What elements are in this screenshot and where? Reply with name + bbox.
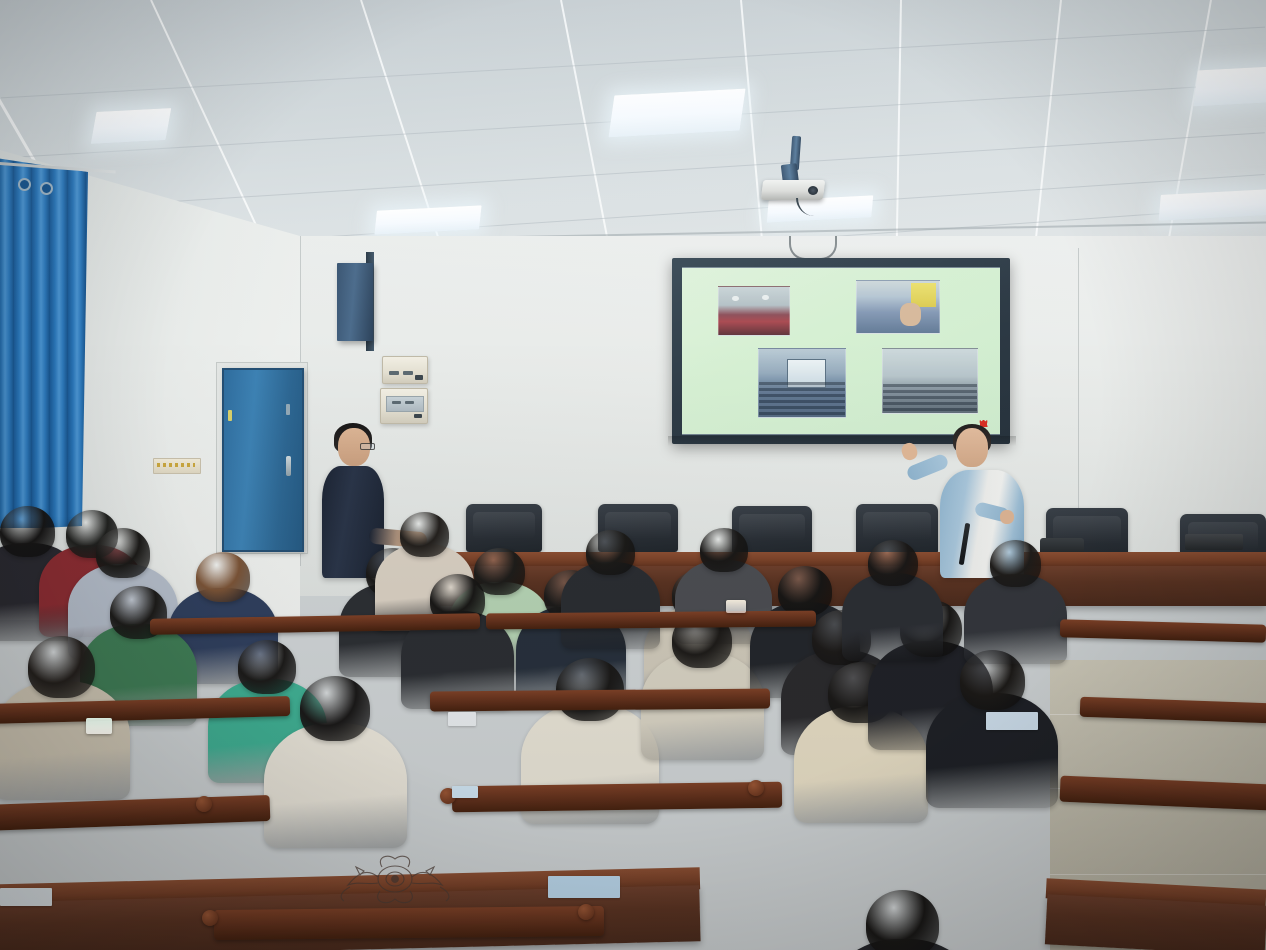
bench-rail (486, 611, 816, 630)
audience-member-torso (561, 562, 660, 648)
door-hinge-icon (228, 410, 232, 421)
bench-rail-front (214, 906, 604, 940)
audience-member-head (586, 530, 635, 575)
projected-slide (682, 268, 1000, 434)
bench-knob (202, 910, 218, 926)
bench-rail (430, 689, 770, 712)
paper-handout[interactable] (548, 876, 620, 898)
bench-rail (1060, 619, 1266, 642)
classroom-door[interactable] (222, 368, 304, 552)
paper-handout[interactable] (448, 712, 476, 726)
paper-handout[interactable] (986, 712, 1038, 730)
audience-member-head (868, 540, 918, 586)
audience-member-head (28, 636, 95, 698)
audience-member-head (238, 640, 296, 694)
wall-speaker (337, 263, 373, 341)
electrical-panel-upper[interactable] (382, 356, 428, 384)
ceiling-light-4 (374, 205, 481, 234)
electrical-panel-lower[interactable] (380, 388, 428, 424)
projection-screen (672, 258, 1010, 444)
slide-photo-bottom-left (758, 348, 846, 418)
hair-clip (726, 600, 746, 613)
laptop[interactable] (1185, 534, 1243, 550)
slide-photo-top-left (718, 286, 790, 336)
chair-back[interactable] (466, 504, 542, 552)
ceiling-light-1 (91, 108, 171, 144)
slide-photo-top-right (856, 280, 940, 334)
shirt-graphic-print (330, 845, 460, 909)
ceiling-light-2 (608, 89, 745, 138)
hair-clip (86, 718, 112, 734)
projector-lens-icon (808, 186, 818, 195)
bench-rail-front (0, 795, 270, 831)
audience-member-torso (964, 574, 1067, 664)
audience-member-head (700, 528, 748, 572)
wall-switch-row (157, 463, 195, 467)
audience-member-torso (926, 693, 1058, 808)
audience-member-head (196, 552, 250, 602)
audience-member-head (300, 676, 370, 741)
slide-photo-bottom-right (882, 348, 978, 414)
bench-rail-front (452, 782, 782, 813)
audience-member-head (990, 540, 1041, 587)
lecture-hall-photo (0, 0, 1266, 950)
audience-member-head (0, 506, 55, 557)
audience-member-head (778, 566, 832, 616)
door-handle-icon[interactable] (286, 456, 291, 476)
audience-member-head (866, 890, 939, 950)
audience-member-torso (842, 573, 943, 661)
window-curtain (0, 158, 88, 528)
presenter-hand (1000, 510, 1014, 524)
audience-member-head (96, 528, 150, 578)
curtain-grommet (18, 178, 31, 191)
bench-knob (196, 796, 212, 812)
door-hinge-icon (286, 404, 290, 415)
screen-cable (789, 236, 837, 260)
bench-knob (748, 780, 764, 796)
audience-member-torso (264, 723, 407, 848)
paper-handout[interactable] (452, 786, 478, 798)
glasses-icon (360, 443, 375, 450)
presenter-head (956, 428, 988, 467)
audience-member-torso (0, 681, 130, 800)
ceiling-light-3 (1193, 66, 1266, 107)
ceiling-light-6 (1159, 189, 1266, 221)
paper-handout[interactable] (0, 888, 52, 906)
audience-member-head (400, 512, 449, 557)
bench-knob (578, 904, 594, 920)
curtain-grommet (40, 182, 53, 195)
